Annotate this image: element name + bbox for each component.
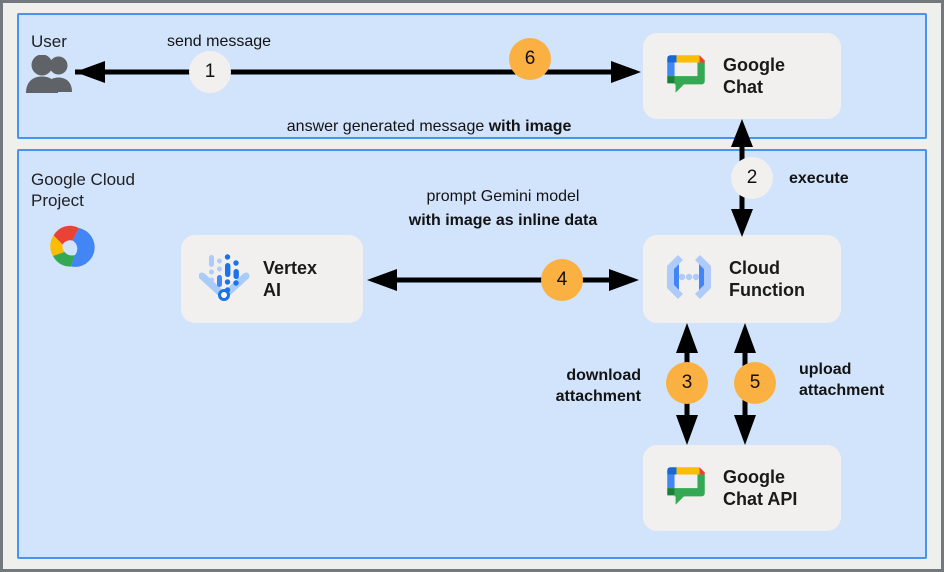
- node-cloud-function[interactable]: Cloud Function: [643, 235, 841, 323]
- edge-label-execute: execute: [789, 168, 849, 189]
- architecture-diagram: User Google Chat send message: [0, 0, 944, 572]
- edge-label-upload-attachment: upload attachment: [799, 359, 944, 401]
- step-badge-1: 1: [189, 51, 231, 93]
- google-chat-icon: [661, 461, 711, 516]
- node-google-chat-api-label: Google Chat API: [723, 466, 797, 510]
- vertex-ai-icon: [199, 249, 251, 310]
- gcp-panel-label: Google Cloud Project: [31, 169, 135, 211]
- node-google-chat-api[interactable]: Google Chat API: [643, 445, 841, 531]
- user-panel-label: User: [31, 31, 67, 52]
- edge-label-prompt-gemini-model: prompt Gemini model: [363, 186, 643, 207]
- node-cloud-function-label: Cloud Function: [729, 257, 805, 301]
- step-badge-6: 6: [509, 38, 551, 80]
- google-chat-icon: [661, 49, 711, 104]
- step-badge-3: 3: [666, 362, 708, 404]
- google-cloud-logo-icon: [41, 221, 103, 276]
- answer-generated-plain-text: answer generated message: [287, 118, 489, 135]
- node-vertex-ai[interactable]: Vertex AI: [181, 235, 363, 323]
- step-badge-4: 4: [541, 259, 583, 301]
- node-vertex-ai-label: Vertex AI: [263, 257, 317, 301]
- arrow-user-to-google-chat: [75, 61, 641, 83]
- node-google-chat[interactable]: Google Chat: [643, 33, 841, 119]
- step-badge-2: 2: [731, 157, 773, 199]
- user-people-icon: [25, 55, 79, 100]
- cloud-function-icon: [661, 251, 717, 308]
- arrow-cloud-function-to-vertex-ai: [367, 269, 639, 291]
- step-badge-5: 5: [734, 362, 776, 404]
- answer-generated-bold-text: with image: [489, 118, 572, 135]
- edge-label-download-attachment: download attachment: [451, 365, 641, 407]
- node-google-chat-label: Google Chat: [723, 54, 785, 98]
- edge-label-send-message: send message: [167, 31, 271, 52]
- edge-label-prompt-inline-data: with image as inline data: [363, 210, 643, 231]
